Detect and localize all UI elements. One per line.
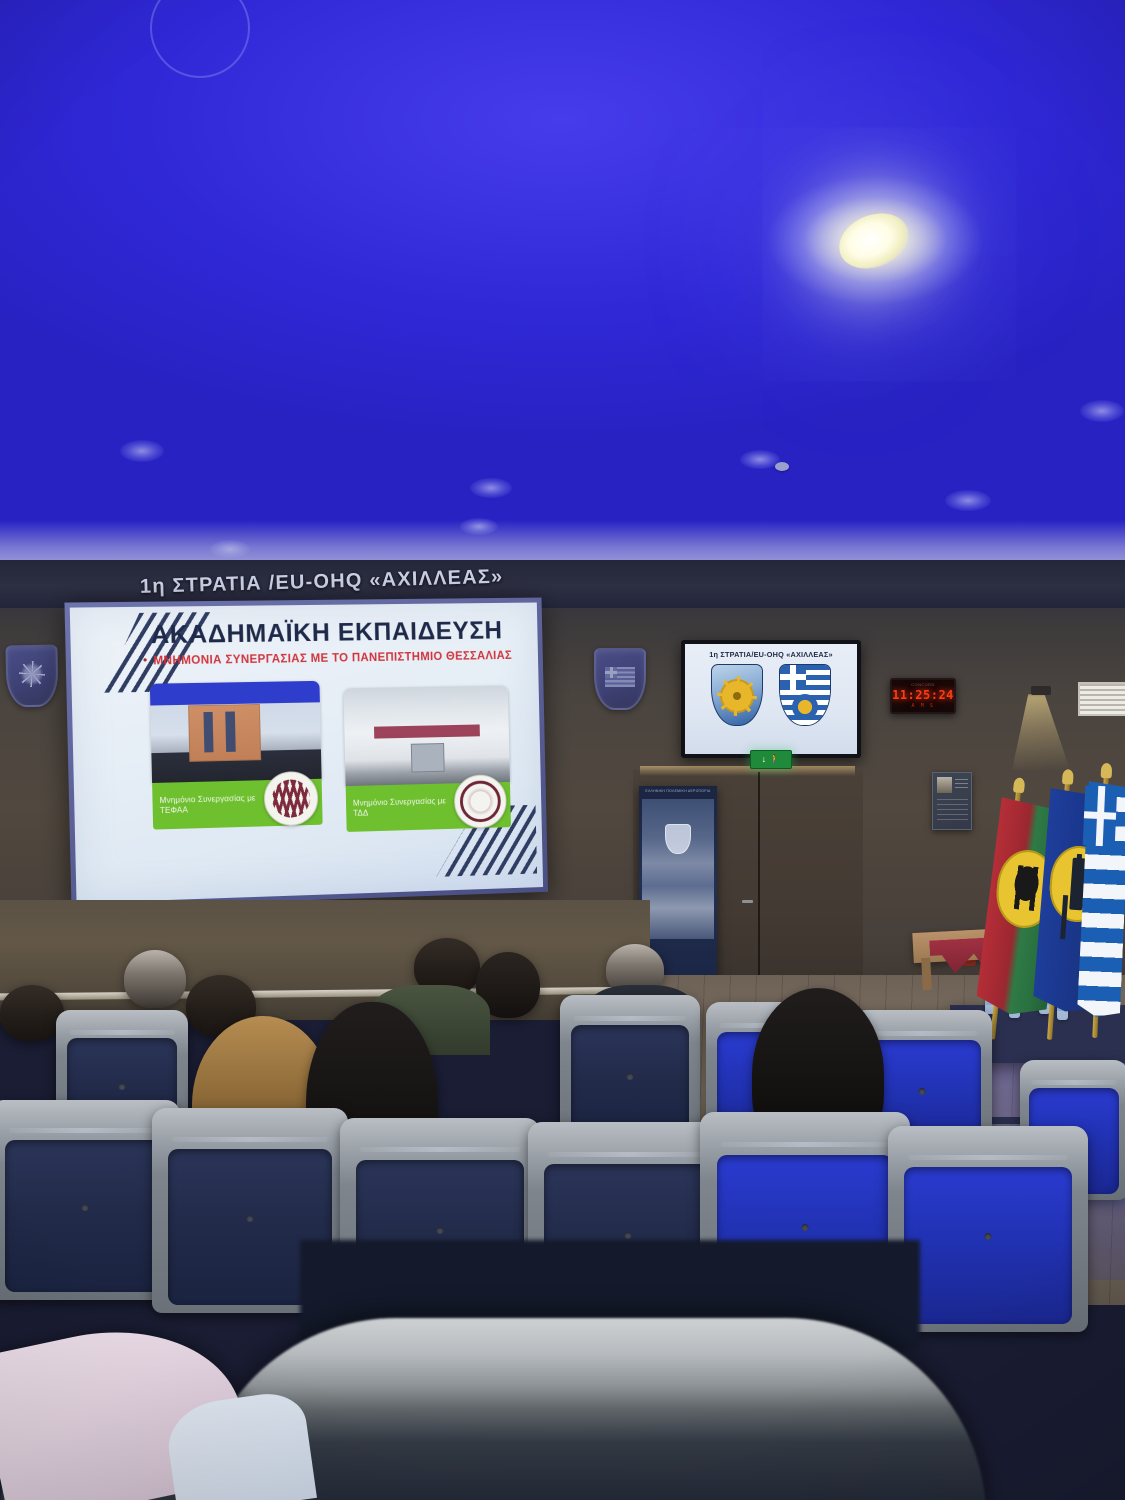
banner-image — [642, 799, 714, 939]
tdd-seal-icon — [454, 774, 508, 829]
audience-head — [124, 950, 186, 1008]
greek-eu-emblem-icon — [779, 664, 831, 726]
monitor-emblems — [711, 664, 831, 726]
vergina-sun-emblem-icon — [711, 664, 763, 726]
slide-title: ΑΚΑΔΗΜΑΪΚΗ ΕΚΠΑΙΔΕΥΣΗ — [150, 616, 520, 650]
memorial-plaque — [932, 772, 972, 830]
card-caption-band: Μνημόνιο Συνεργασίας με ΤΔΔ — [346, 782, 511, 832]
plaque-portrait — [937, 777, 952, 793]
bench-leg — [921, 958, 932, 990]
clock-time: 11:25:24 — [892, 688, 954, 702]
stage-front-panel — [0, 900, 650, 1020]
vergina-sun-shield-icon — [5, 645, 58, 708]
audience-head — [0, 985, 64, 1041]
monitor-screen: 1η ΣΤΡΑΤΙΑ/EU-OHQ «ΑΧΙΛΛΕΑΣ» — [685, 644, 857, 754]
greek-flag-shield-icon — [594, 648, 646, 710]
slide-bullet-text: ΜΝΗΜΟΝΙΑ ΣΥΝΕΡΓΑΣΙΑΣ ΜΕ ΤΟ ΠΑΝΕΠΙΣΤΗΜΙΟ … — [153, 650, 526, 668]
card-caption-band: Μνημόνιο Συνεργασίας με ΤΕΦΑΑ — [152, 779, 323, 830]
card-caption: Μνημόνιο Συνεργασίας με ΤΔΔ — [346, 796, 448, 820]
downlight — [945, 490, 991, 511]
ceiling — [0, 0, 1125, 600]
door-handle[interactable] — [742, 900, 753, 903]
door-seam — [758, 772, 760, 1008]
projection-screen: ΑΚΑΔΗΜΑΪΚΗ ΕΚΠΑΙΔΕΥΣΗ ΜΝΗΜΟΝΙΑ ΣΥΝΕΡΓΑΣΙ… — [64, 598, 548, 909]
banner-top-text: ΕΛΛΗΝΙΚΗ ΠΟΛΕΜΙΚΗ ΑΕΡΟΠΟΡΙΑ — [639, 789, 717, 793]
air-vent-grille — [1078, 682, 1125, 716]
presentation-slide: ΑΚΑΔΗΜΑΪΚΗ ΕΚΠΑΙΔΕΥΣΗ ΜΝΗΜΟΝΙΑ ΣΥΝΕΡΓΑΣΙ… — [70, 602, 543, 903]
smoke-detector-icon — [775, 462, 789, 471]
downlight — [1080, 400, 1124, 422]
clock-brand: CONCORD — [892, 682, 954, 687]
downlight — [120, 440, 164, 462]
emergency-exit-icon: ↓🚶 — [750, 750, 792, 769]
building-photo — [150, 681, 322, 783]
door-uplight — [640, 766, 855, 776]
slide-card: Μνημόνιο Συνεργασίας με ΤΔΔ — [343, 685, 511, 831]
downlight — [740, 450, 780, 469]
tefaa-seal-icon — [263, 771, 318, 827]
ceiling-spotlight — [831, 203, 917, 278]
wall-monitor: 1η ΣΤΡΑΤΙΑ/EU-OHQ «ΑΧΙΛΛΕΑΣ» — [681, 640, 861, 758]
digital-clock: CONCORD 11:25:24 A M S — [890, 678, 956, 714]
greek-flag-canton — [1083, 785, 1118, 846]
auditorium-photo: 1η ΣΤΡΑΤΙΑ /EU-OHQ «ΑΧΙΛΛΕΑΣ» ΑΚΑΔΗΜΑΪΚΗ… — [0, 0, 1125, 1500]
card-caption: Μνημόνιο Συνεργασίας με ΤΕΦΑΑ — [152, 793, 257, 817]
foreground-seat[interactable] — [196, 1318, 986, 1500]
monitor-title: 1η ΣΤΡΑΤΙΑ/EU-OHQ «ΑΧΙΛΛΕΑΣ» — [709, 650, 833, 659]
ceiling-ring-light — [150, 0, 250, 78]
downlight — [470, 478, 512, 498]
slide-card: Μνημόνιο Συνεργασίας με ΤΕΦΑΑ — [150, 681, 323, 830]
wall-lamp — [1031, 686, 1051, 695]
building-photo — [343, 685, 510, 786]
clock-subdisplay: A M S — [892, 703, 954, 709]
